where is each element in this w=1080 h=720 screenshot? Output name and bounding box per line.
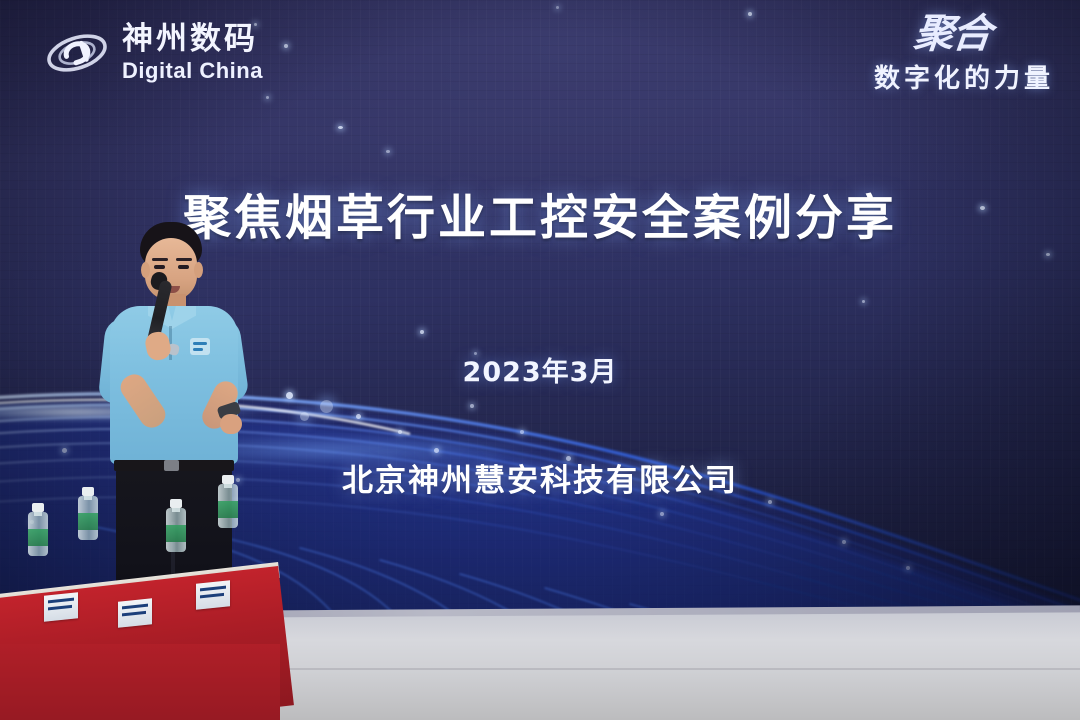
shirt-logo-badge (190, 338, 210, 355)
speaker-eye-right (178, 265, 189, 269)
digital-china-logo: 神州数码 Digital China (44, 22, 263, 84)
speaker-eyebrow-right (176, 258, 192, 261)
speaker-person (96, 222, 281, 622)
event-logo: 聚合 数字化的力量 (874, 16, 1054, 95)
name-card (44, 592, 78, 622)
name-card (196, 580, 230, 610)
speaker-eye-left (154, 265, 165, 269)
speaker-belt-buckle (164, 460, 179, 471)
speaker-eyebrow-left (152, 258, 168, 261)
particle (266, 96, 269, 99)
particle (748, 12, 752, 16)
particle (556, 6, 559, 9)
brand-name-cn: 神州数码 (122, 24, 263, 55)
brand-text-block: 神州数码 Digital China (122, 24, 263, 82)
particle (862, 300, 865, 303)
name-card (118, 598, 152, 628)
speaker-hand-right (220, 414, 242, 434)
event-subtitle: 数字化的力量 (874, 58, 1054, 95)
conference-photo: 神州数码 Digital China 聚合 数字化的力量 聚焦烟草行业工控安全案… (0, 0, 1080, 720)
particle (1046, 253, 1050, 256)
event-calligraphy: 聚合 (872, 16, 992, 52)
brand-name-en: Digital China (122, 60, 263, 82)
speaker-ear-right (194, 262, 203, 278)
particle (338, 126, 343, 129)
speaker-ear-left (141, 262, 150, 278)
particle (386, 150, 390, 153)
particle (284, 44, 288, 48)
digital-china-swirl-icon (44, 22, 110, 84)
table-drape-front (0, 644, 280, 720)
